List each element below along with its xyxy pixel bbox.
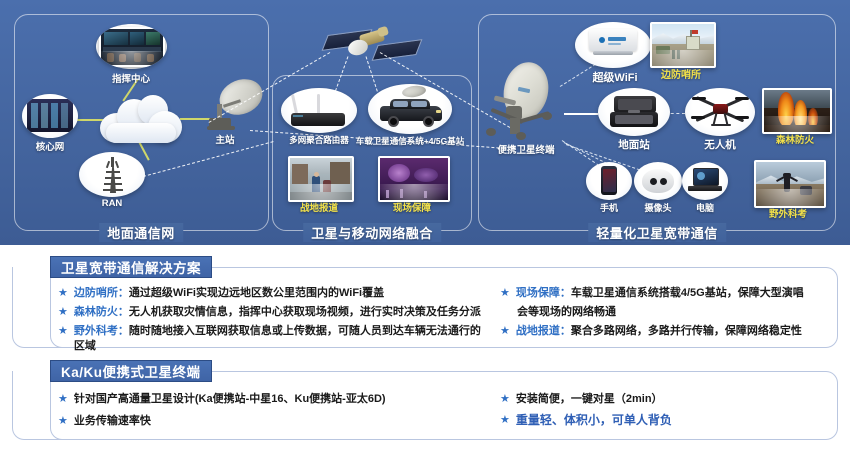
- block-solution-tag: 卫星宽带通信解决方案: [50, 256, 212, 278]
- portable-terminal-icon: [486, 62, 572, 140]
- router-icon: [291, 94, 347, 128]
- node-label-mobile-phone: 手机: [600, 201, 618, 214]
- star-icon: ★: [500, 392, 510, 407]
- node-label-multi-net-router: 多网聚合路由器: [289, 134, 349, 146]
- list-item-text: 针对国产高通量卫星设计(Ka便携站-中星16、Ku便携站-亚太6D): [74, 392, 386, 407]
- battlefield-report-photo: [288, 156, 354, 202]
- panel-title-fusion: 卫星与移动网络融合: [303, 223, 441, 242]
- node-battlefield-report: 战地报道: [288, 156, 354, 202]
- list-item: ★ 安装简便，一键对星（2min）: [500, 392, 838, 407]
- node-label-ran: RAN: [102, 198, 123, 209]
- node-on-site-support: 现场保障: [378, 156, 450, 202]
- vehicle-illustration: [368, 84, 452, 134]
- node-vehicle-sat-system: 车载卫星通信系统+4/5G基站: [368, 84, 452, 134]
- block-terminal-columns: ★ 针对国产高通量卫星设计(Ka便携站-中星16、Ku便携站-亚太6D) ★ 业…: [12, 392, 838, 433]
- node-command-center: 指挥中心: [96, 24, 167, 69]
- star-icon: ★: [58, 324, 68, 339]
- list-item-text: 业务传输速率快: [74, 414, 151, 429]
- list-item: ★ 边防哨所：通过超级WiFi实现边远地区数公里范围内的WiFi覆盖: [58, 286, 486, 301]
- page-root: 指挥中心 核心网: [0, 0, 850, 451]
- drone-illustration: [685, 88, 755, 136]
- super-wifi-illustration: [575, 22, 651, 68]
- list-item-text: 车载卫星通信系统搭载4/5G基站，保障大型演唱: [571, 287, 804, 299]
- node-computer: 电脑: [682, 162, 728, 200]
- node-label-ground-station: 地面站: [618, 137, 650, 152]
- list-item-text: 随时随地接入互联网获取信息或上传数据，可随人员到达车辆无法通行的区域: [74, 325, 481, 352]
- block-solution-tag-label: 卫星宽带通信解决方案: [61, 257, 201, 277]
- cell-tower-icon: [101, 157, 125, 193]
- network-cloud-icon: [100, 95, 182, 143]
- ran-tower-illustration: [79, 152, 145, 197]
- laptop-illustration: [682, 162, 728, 200]
- node-camera: 摄像头: [634, 162, 682, 200]
- panel-title-terrestrial: 地面通信网: [99, 223, 183, 242]
- list-item-text: 安装简便，一键对星（2min）: [516, 392, 663, 407]
- list-item-text: 通过超级WiFi实现边远地区数公里范围内的WiFi覆盖: [129, 287, 384, 299]
- node-core-network: 核心网: [22, 94, 78, 138]
- block-solution-right-column: ★ 现场保障：车载卫星通信系统搭载4/5G基站，保障大型演唱 会等现场的网络畅通…: [486, 286, 838, 358]
- node-label-forest-fire: 森林防火: [776, 132, 814, 146]
- list-item: ★ 战地报道：聚合多路网络，多路并行传输，保障网络稳定性: [500, 324, 838, 339]
- core-network-illustration: [22, 94, 78, 138]
- star-icon: ★: [58, 286, 68, 301]
- node-label-camera: 摄像头: [644, 201, 671, 214]
- border-post-photo: [650, 22, 716, 68]
- block-terminal-tag-label: Ka/Ku便携式卫星终端: [61, 361, 201, 381]
- star-icon: ★: [58, 414, 68, 429]
- ground-station-illustration: [598, 88, 670, 136]
- forest-fire-photo: [762, 88, 832, 134]
- list-item-label: 森林防火：: [74, 306, 129, 318]
- node-mobile-phone: 手机: [586, 162, 632, 200]
- block-terminal-left-column: ★ 针对国产高通量卫星设计(Ka便携站-中星16、Ku便携站-亚太6D) ★ 业…: [12, 392, 486, 433]
- field-research-photo: [754, 160, 826, 208]
- camera-icon: [642, 169, 674, 193]
- command-center-illustration: [96, 24, 167, 69]
- node-multi-net-router: 多网聚合路由器: [281, 88, 357, 133]
- node-ran: RAN: [79, 152, 145, 197]
- block-terminal-right-column: ★ 安装简便，一键对星（2min） ★ 重量轻、体积小，可单人背负: [486, 392, 838, 433]
- star-icon: ★: [500, 324, 510, 339]
- node-label-computer: 电脑: [696, 201, 714, 214]
- list-item-text: 无人机获取灾情信息，指挥中心获取现场视频，进行实时决策及任务分派: [129, 306, 481, 318]
- list-item-text: 聚合多路网络，多路并行传输，保障网络稳定性: [571, 325, 802, 337]
- star-icon: ★: [58, 305, 68, 320]
- list-item: ★ 业务传输速率快: [58, 414, 486, 429]
- node-label-drone: 无人机: [704, 137, 736, 152]
- phone-icon: [601, 166, 617, 195]
- network-architecture-diagram: 指挥中心 核心网: [0, 0, 850, 245]
- node-label-command-center: 指挥中心: [112, 71, 150, 85]
- star-icon: ★: [500, 413, 510, 428]
- drone-icon: [691, 95, 749, 129]
- node-drone: 无人机: [685, 88, 755, 136]
- block-terminal-tag: Ka/Ku便携式卫星终端: [50, 360, 212, 382]
- node-forest-fire: 森林防火: [762, 88, 832, 134]
- phone-illustration: [586, 162, 632, 200]
- list-item-label: 战地报道：: [516, 325, 571, 337]
- list-item: ★ 针对国产高通量卫星设计(Ka便携站-中星16、Ku便携站-亚太6D): [58, 392, 486, 407]
- router-illustration: [281, 88, 357, 133]
- block-solution-columns: ★ 边防哨所：通过超级WiFi实现边远地区数公里范围内的WiFi覆盖 ★ 森林防…: [12, 286, 838, 358]
- list-item-label: 野外科考：: [74, 325, 129, 337]
- list-item: ★ 野外科考：随时随地接入互联网获取信息或上传数据，可随人员到达车辆无法通行的区…: [58, 324, 486, 354]
- list-item-continuation: 会等现场的网络畅通: [500, 305, 838, 320]
- node-label-core-network: 核心网: [36, 139, 65, 153]
- node-border-post: 边防哨所: [650, 22, 716, 68]
- laptop-icon: [688, 168, 722, 194]
- list-item-label: 边防哨所：: [74, 287, 129, 299]
- node-label-vehicle-sat-system: 车载卫星通信系统+4/5G基站: [356, 135, 464, 147]
- node-label-on-site-support: 现场保障: [393, 200, 431, 214]
- command-center-photo: [99, 27, 165, 67]
- list-item: ★ 重量轻、体积小，可单人背负: [500, 413, 838, 428]
- panel-title-lightweight: 轻量化卫星宽带通信: [588, 223, 726, 242]
- on-site-support-photo: [378, 156, 450, 202]
- star-icon: ★: [500, 286, 510, 301]
- node-label-super-wifi: 超级WiFi: [592, 69, 637, 85]
- list-item: ★ 现场保障：车载卫星通信系统搭载4/5G基站，保障大型演唱: [500, 286, 838, 301]
- ground-station-case-icon: [610, 96, 658, 128]
- camera-illustration: [634, 162, 682, 200]
- node-label-battlefield-report: 战地报道: [300, 200, 338, 214]
- node-label-portable-terminal: 便携卫星终端: [497, 142, 554, 156]
- node-label-border-post: 边防哨所: [661, 66, 701, 81]
- node-ground-station: 地面站: [598, 88, 670, 136]
- list-item-label: 现场保障：: [516, 287, 571, 299]
- block-solution: 卫星宽带通信解决方案 ★ 边防哨所：通过超级WiFi实现边远地区数公里范围内的W…: [12, 256, 838, 348]
- server-rack-icon: [27, 99, 73, 132]
- node-label-main-station: 主站: [215, 132, 234, 146]
- super-wifi-device-icon: [589, 29, 637, 51]
- node-field-research: 野外科考: [754, 160, 826, 208]
- list-item-text-highlighted: 重量轻、体积小，可单人背负: [516, 413, 672, 428]
- node-super-wifi: 超级WiFi: [575, 22, 651, 68]
- node-label-field-research: 野外科考: [769, 206, 807, 220]
- block-terminal: Ka/Ku便携式卫星终端 ★ 针对国产高通量卫星设计(Ka便携站-中星16、Ku…: [12, 360, 838, 440]
- suv-icon: [378, 98, 444, 128]
- list-item: ★ 森林防火：无人机获取灾情信息，指挥中心获取现场视频，进行实时决策及任务分派: [58, 305, 486, 320]
- star-icon: ★: [58, 392, 68, 407]
- block-solution-left-column: ★ 边防哨所：通过超级WiFi实现边远地区数公里范围内的WiFi覆盖 ★ 森林防…: [12, 286, 486, 358]
